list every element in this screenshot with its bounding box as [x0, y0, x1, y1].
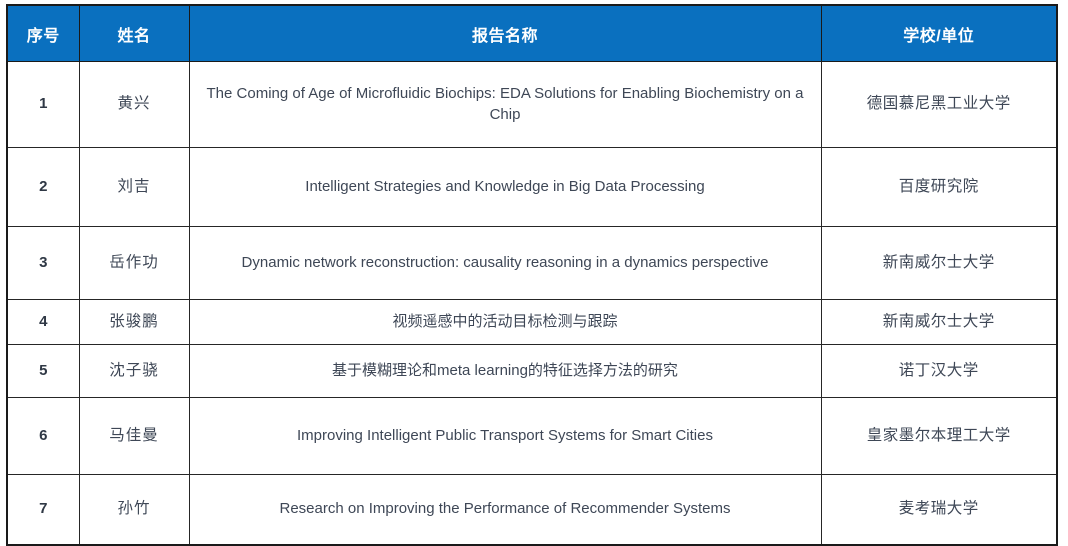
table-row: 3 岳作功 Dynamic network reconstruction: ca… [7, 227, 1057, 300]
cell-index: 3 [7, 227, 79, 300]
report-table-container: 序号 姓名 报告名称 学校/单位 1 黄兴 The Coming of Age … [6, 4, 1056, 505]
cell-school: 新南威尔士大学 [821, 227, 1057, 300]
cell-title: Research on Improving the Performance of… [189, 475, 821, 546]
column-header-title: 报告名称 [189, 5, 821, 62]
table-header-row: 序号 姓名 报告名称 学校/单位 [7, 5, 1057, 62]
cell-title: The Coming of Age of Microfluidic Biochi… [189, 62, 821, 148]
table-row: 6 马佳曼 Improving Intelligent Public Trans… [7, 398, 1057, 475]
cell-index: 7 [7, 475, 79, 546]
cell-title: Improving Intelligent Public Transport S… [189, 398, 821, 475]
table-row: 2 刘吉 Intelligent Strategies and Knowledg… [7, 148, 1057, 227]
cell-title: 视频遥感中的活动目标检测与跟踪 [189, 300, 821, 345]
table-header: 序号 姓名 报告名称 学校/单位 [7, 5, 1057, 62]
cell-school: 百度研究院 [821, 148, 1057, 227]
cell-name: 张骏鹏 [79, 300, 189, 345]
report-schedule-table: 序号 姓名 报告名称 学校/单位 1 黄兴 The Coming of Age … [6, 4, 1058, 546]
cell-index: 2 [7, 148, 79, 227]
cell-name: 马佳曼 [79, 398, 189, 475]
cell-index: 6 [7, 398, 79, 475]
column-header-school: 学校/单位 [821, 5, 1057, 62]
table-row: 1 黄兴 The Coming of Age of Microfluidic B… [7, 62, 1057, 148]
table-row: 7 孙竹 Research on Improving the Performan… [7, 475, 1057, 546]
cell-index: 5 [7, 345, 79, 398]
table-row: 5 沈子骁 基于模糊理论和meta learning的特征选择方法的研究 诺丁汉… [7, 345, 1057, 398]
cell-name: 黄兴 [79, 62, 189, 148]
table-body: 1 黄兴 The Coming of Age of Microfluidic B… [7, 62, 1057, 546]
column-header-index: 序号 [7, 5, 79, 62]
cell-name: 沈子骁 [79, 345, 189, 398]
column-header-name: 姓名 [79, 5, 189, 62]
cell-school: 德国慕尼黑工业大学 [821, 62, 1057, 148]
cell-name: 岳作功 [79, 227, 189, 300]
cell-school: 麦考瑞大学 [821, 475, 1057, 546]
cell-index: 4 [7, 300, 79, 345]
cell-name: 刘吉 [79, 148, 189, 227]
cell-title: Dynamic network reconstruction: causalit… [189, 227, 821, 300]
cell-school: 新南威尔士大学 [821, 300, 1057, 345]
cell-school: 皇家墨尔本理工大学 [821, 398, 1057, 475]
cell-school: 诺丁汉大学 [821, 345, 1057, 398]
table-row: 4 张骏鹏 视频遥感中的活动目标检测与跟踪 新南威尔士大学 [7, 300, 1057, 345]
cell-title: Intelligent Strategies and Knowledge in … [189, 148, 821, 227]
cell-name: 孙竹 [79, 475, 189, 546]
cell-index: 1 [7, 62, 79, 148]
cell-title: 基于模糊理论和meta learning的特征选择方法的研究 [189, 345, 821, 398]
